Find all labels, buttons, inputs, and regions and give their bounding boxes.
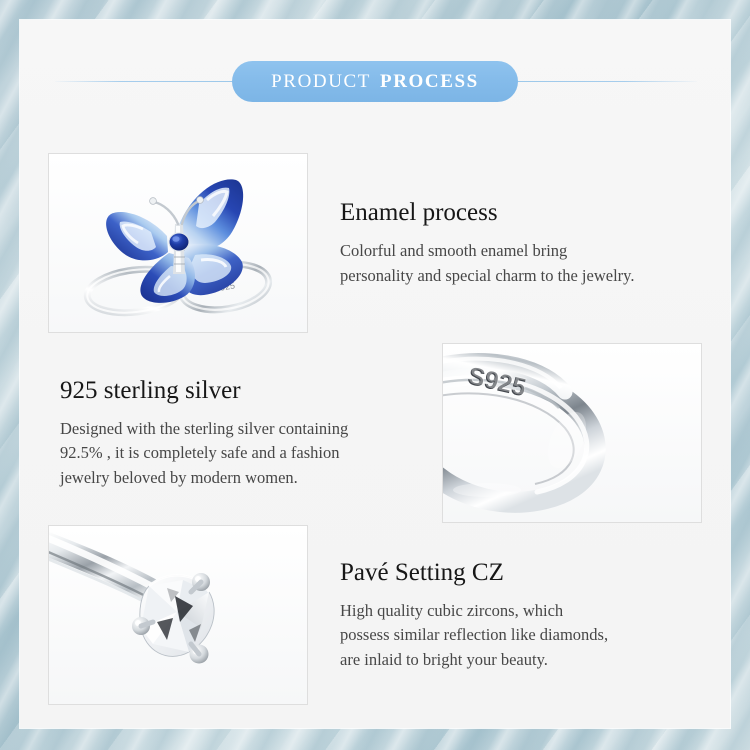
body-line: possess similar reflection like diamonds… (340, 623, 722, 647)
butterfly-enamel-ring-photo: S925 (48, 153, 308, 333)
body-line: High quality cubic zircons, which (340, 599, 722, 623)
section-heading-enamel: Enamel process (340, 198, 722, 228)
cz-stone-illustration (49, 526, 307, 704)
sterling-silver-band-hallmark-photo: S925 S925 (442, 343, 702, 523)
header-pill: PRODUCT PROCESS (232, 61, 518, 102)
body-line: Designed with the sterling silver contai… (60, 417, 442, 441)
body-line: Colorful and smooth enamel bring (340, 239, 722, 263)
section-body-enamel: Colorful and smooth enamel bring persona… (340, 239, 722, 288)
section-sterling-silver: S925 S925 925 sterling silver Designed w… (20, 338, 730, 528)
section-heading-pave: Pavé Setting CZ (340, 558, 722, 588)
header-rule-left (55, 81, 245, 82)
body-line: personality and special charm to the jew… (340, 264, 722, 288)
silver-band-illustration: S925 S925 (443, 344, 701, 522)
section-body-pave: High quality cubic zircons, which posses… (340, 599, 722, 672)
body-line: jewelry beloved by modern women. (60, 466, 442, 490)
section-heading-silver: 925 sterling silver (60, 376, 442, 406)
pave-cz-stone-photo (48, 525, 308, 705)
section-body-silver: Designed with the sterling silver contai… (60, 417, 442, 490)
header-band: PRODUCT PROCESS (20, 61, 730, 101)
header-rule-right (507, 81, 697, 82)
header-title-bold: PROCESS (380, 71, 479, 93)
pave-cz-text: Pavé Setting CZ High quality cubic zirco… (340, 558, 722, 672)
body-line: are inlaid to bright your beauty. (340, 648, 722, 672)
enamel-process-text: Enamel process Colorful and smooth ename… (340, 198, 722, 288)
section-pave-setting-cz: Pavé Setting CZ High quality cubic zirco… (20, 520, 730, 710)
body-line: 92.5% , it is completely safe and a fash… (60, 441, 442, 465)
sterling-silver-text: 925 sterling silver Designed with the st… (60, 376, 442, 490)
section-enamel-process: S925 (20, 148, 730, 338)
butterfly-ring-illustration: S925 (49, 154, 307, 332)
infographic-page: PRODUCT PROCESS (0, 0, 750, 750)
header-title-light: PRODUCT (271, 71, 371, 93)
content-card: PRODUCT PROCESS (20, 20, 730, 728)
